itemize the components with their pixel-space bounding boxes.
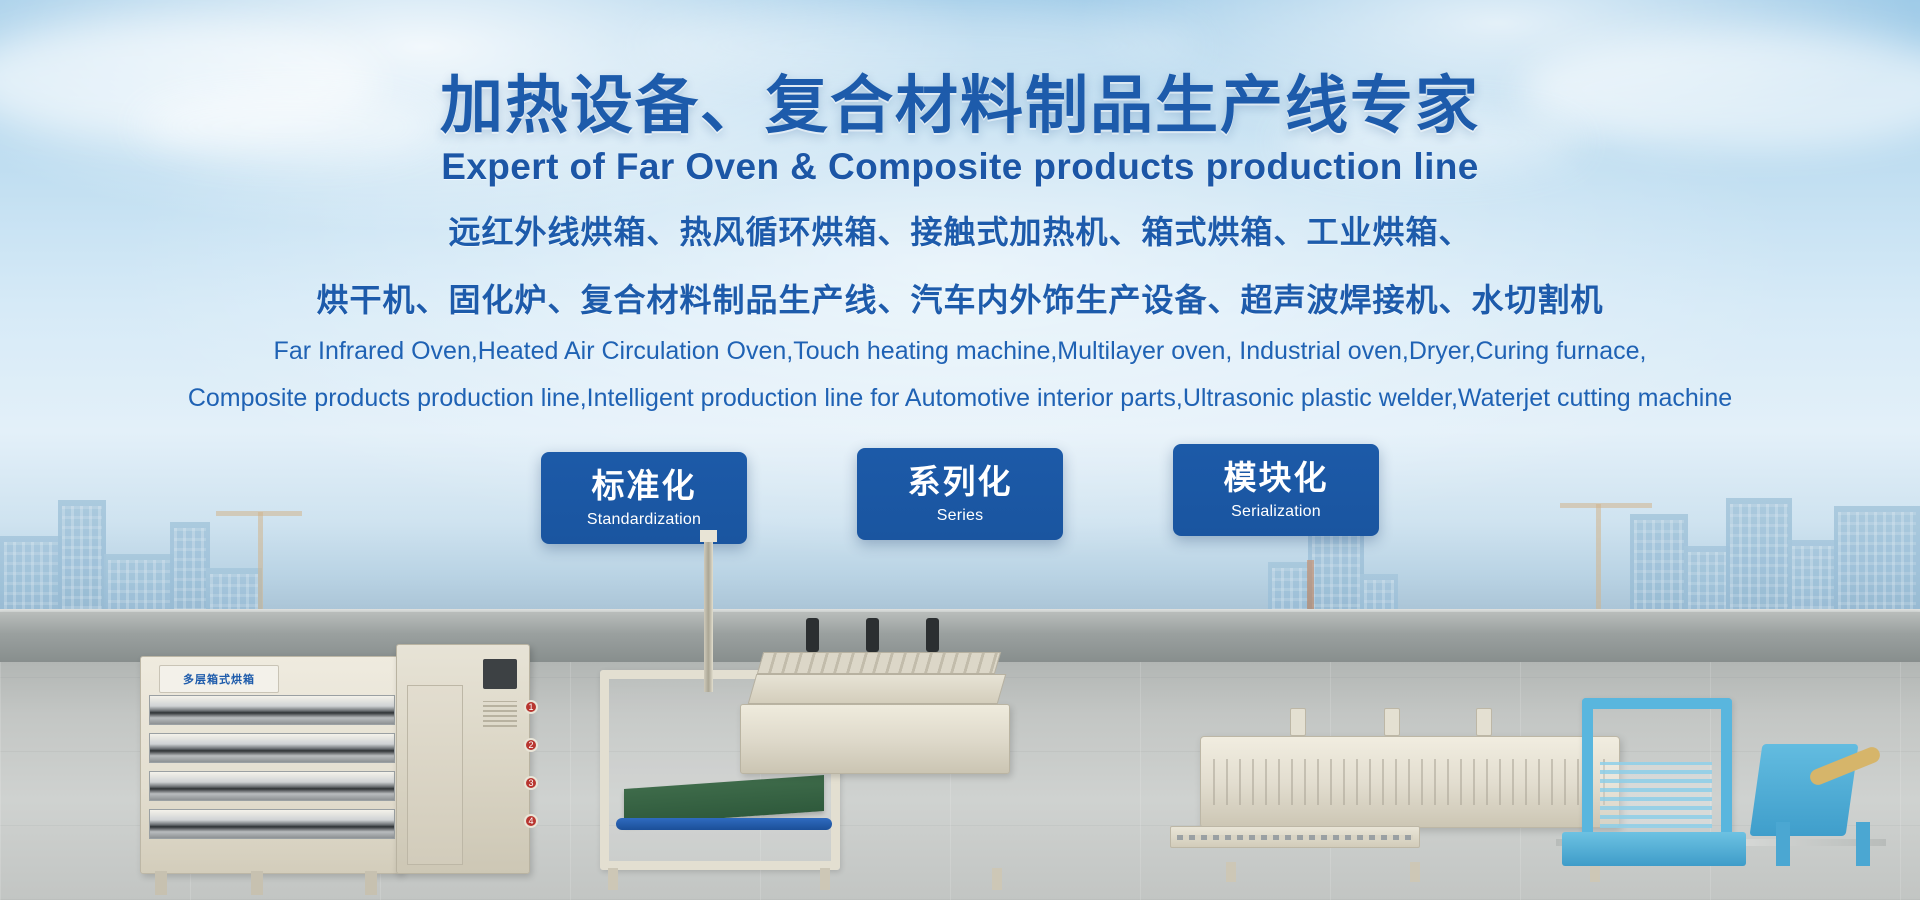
badge-series[interactable]: 系列化 Series [857, 448, 1063, 540]
badge-label-cn: 系列化 [908, 465, 1013, 500]
press-deck [740, 704, 1010, 774]
badge-label-en: Series [937, 507, 984, 525]
shelf-number-badge: 2 [524, 738, 538, 752]
press-mast-cap [700, 530, 717, 542]
press-leg [608, 868, 618, 890]
cabinet-door [407, 685, 463, 865]
cell-post [1856, 822, 1870, 866]
badge-label-en: Standardization [587, 511, 701, 529]
press-cylinder [806, 618, 819, 652]
headline-chinese: 加热设备、复合材料制品生产线专家 [0, 74, 1920, 138]
badge-serialization[interactable]: 模块化 Serialization [1173, 444, 1379, 536]
subtitle-chinese-line-2: 烘干机、固化炉、复合材料制品生产线、汽车内外饰生产设备、超声波焊接机、水切割机 [0, 278, 1920, 323]
oven-leg [365, 871, 377, 895]
press-grid [757, 652, 1001, 674]
tunnel-conveyor [1170, 826, 1420, 848]
cell-post [1776, 822, 1790, 866]
control-screen-icon [483, 659, 517, 689]
subtitle-chinese-line-1: 远红外线烘箱、热风循环烘箱、接触式加热机、箱式烘箱、工业烘箱、 [0, 210, 1920, 255]
oven-control-cabinet [396, 644, 530, 874]
hero-banner: 加热设备、复合材料制品生产线专家 Expert of Far Oven & Co… [0, 0, 1920, 900]
oven-leg [251, 871, 263, 895]
machine-laminating-press [600, 610, 1020, 870]
subtitle-english-line-2: Composite products production line,Intel… [0, 380, 1920, 417]
shelf-number-badge: 1 [524, 700, 538, 714]
oven-leg [155, 871, 167, 895]
press-leg [992, 868, 1002, 890]
shelf-number-badge: 3 [524, 776, 538, 790]
press-cylinder [926, 618, 939, 652]
oven-shelf [149, 809, 395, 839]
oven-shelf [149, 771, 395, 801]
oven-shelf [149, 695, 395, 725]
press-leg [820, 868, 830, 890]
vent-grille-icon [483, 701, 517, 727]
feature-badge-group: 标准化 Standardization 系列化 Series 模块化 Seria… [0, 452, 1920, 544]
press-heating-plate [748, 674, 1007, 704]
banner-copy: 加热设备、复合材料制品生产线专家 Expert of Far Oven & Co… [0, 0, 1920, 416]
subtitle-english-line-1: Far Infrared Oven,Heated Air Circulation… [0, 333, 1920, 370]
tunnel-exhaust-stack [1290, 708, 1306, 736]
oven-shelf [149, 733, 395, 763]
press-cylinder [866, 618, 879, 652]
cell-water-tank [1562, 832, 1746, 866]
press-roller [616, 818, 832, 830]
shelf-number-badge: 4 [524, 814, 538, 828]
machine-waterjet-cell [1556, 676, 1886, 866]
badge-label-cn: 模块化 [1224, 461, 1329, 496]
tunnel-leg [1226, 862, 1236, 882]
machine-multilayer-oven: 多层箱式烘箱 1 2 3 4 [140, 644, 530, 874]
oven-nameplate: 多层箱式烘箱 [159, 665, 279, 693]
tunnel-leg [1410, 862, 1420, 882]
tunnel-exhaust-stack [1384, 708, 1400, 736]
badge-label-cn: 标准化 [592, 469, 697, 504]
headline-english: Expert of Far Oven & Composite products … [0, 146, 1920, 188]
badge-label-en: Serialization [1231, 503, 1321, 521]
oven-body: 多层箱式烘箱 [140, 656, 402, 874]
machine-lineup: 多层箱式烘箱 1 2 3 4 [0, 570, 1920, 900]
cell-gantry-mesh [1600, 762, 1712, 828]
tunnel-exhaust-stack [1476, 708, 1492, 736]
press-mast [704, 540, 713, 692]
